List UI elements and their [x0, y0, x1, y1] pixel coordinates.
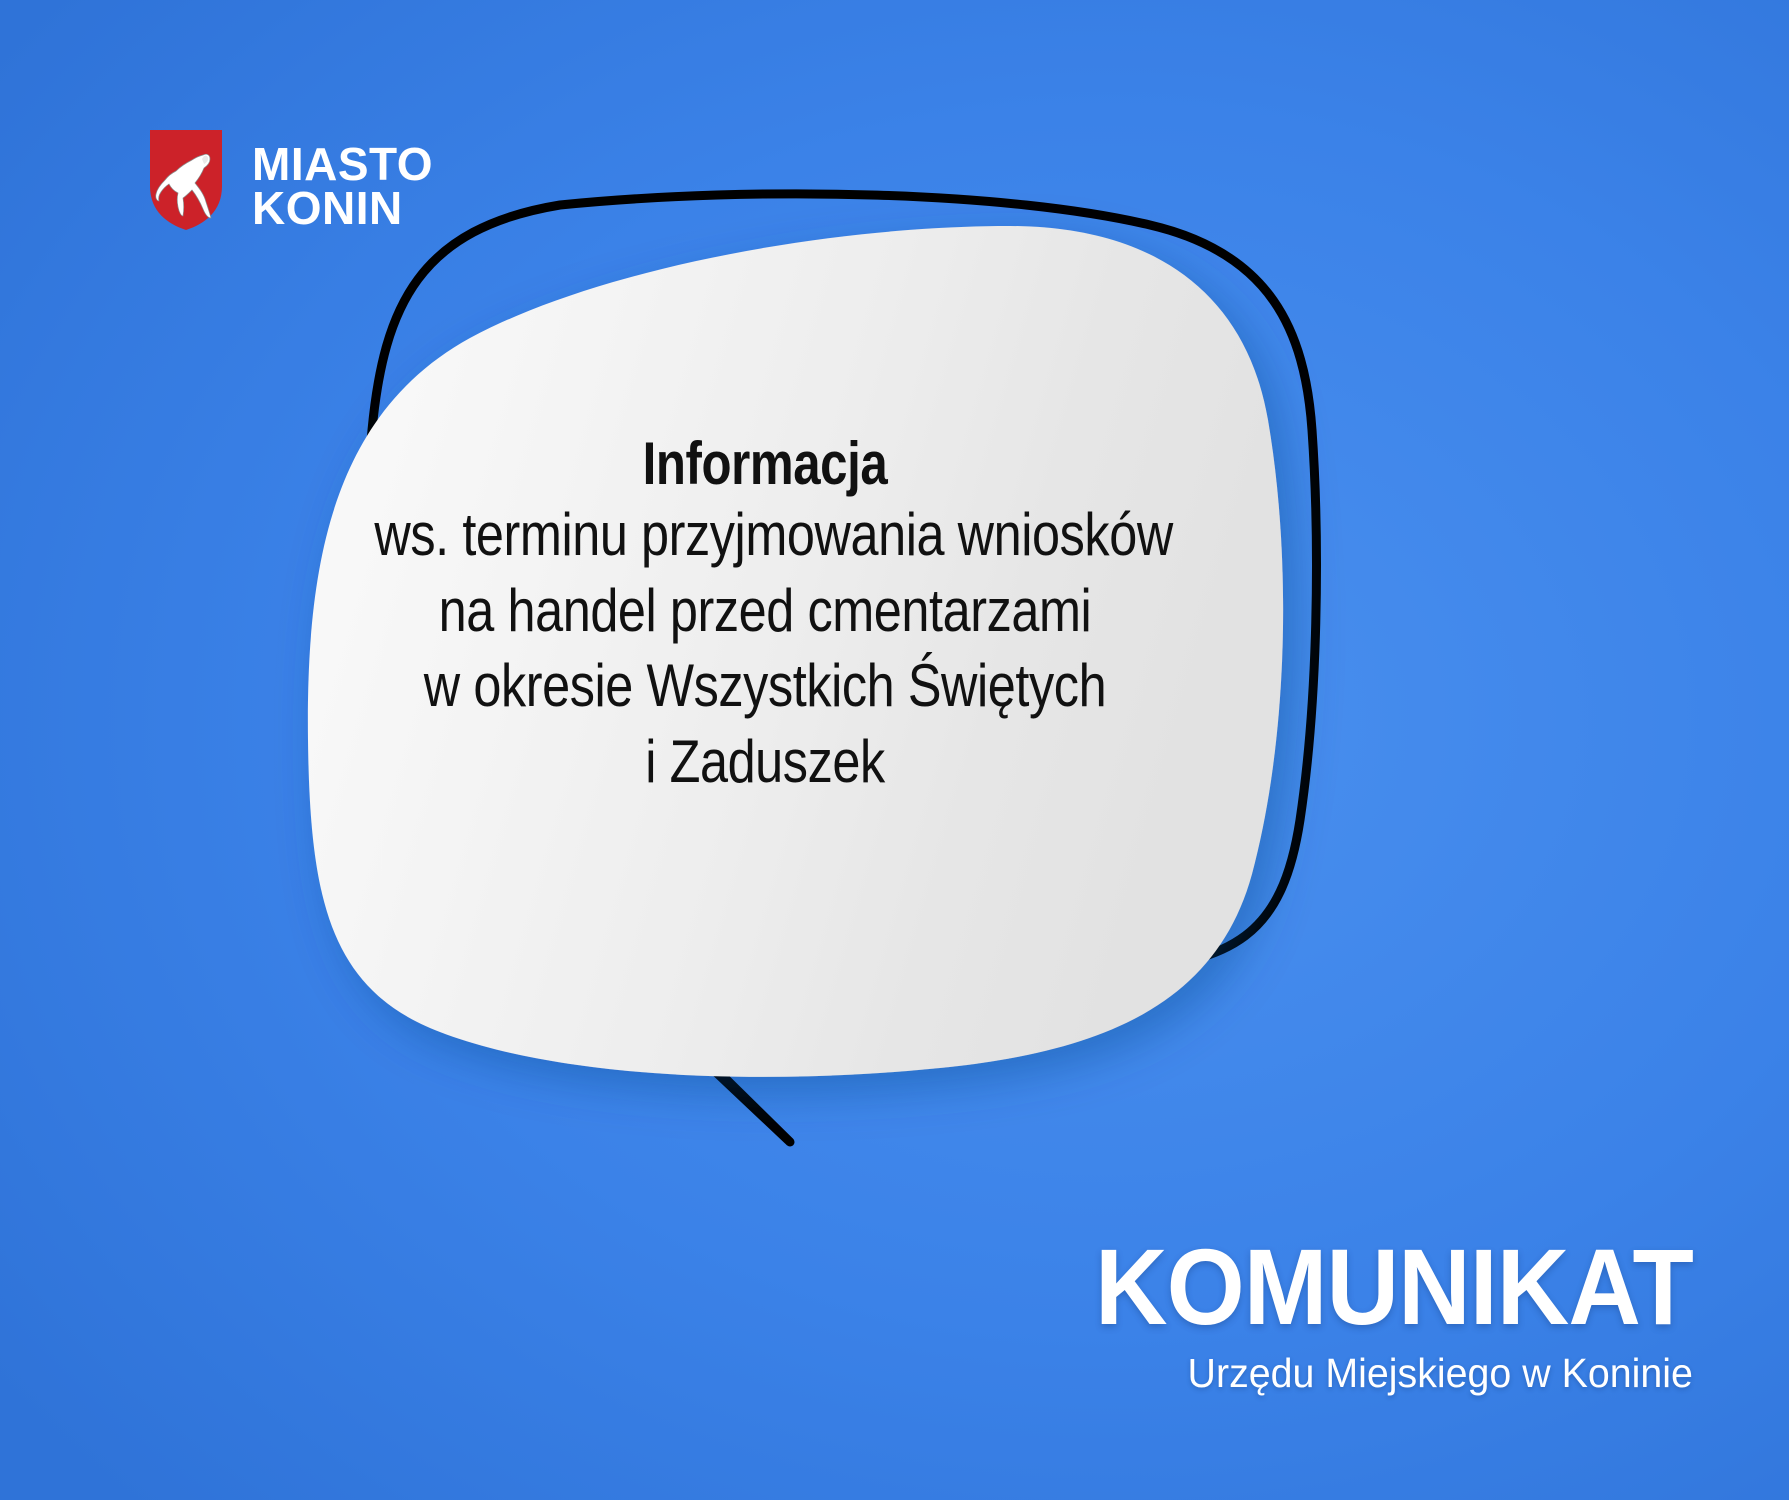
announcement-line-3: w okresie Wszystkich Świętych	[374, 648, 1155, 724]
logo-line-2: KONIN	[252, 186, 433, 230]
brand-title: KOMUNIKAT	[1095, 1233, 1693, 1341]
brand-footer: KOMUNIKAT Urzędu Miejskiego w Koninie	[1050, 1233, 1693, 1394]
konin-shield-icon	[148, 128, 224, 232]
announcement-poster: MIASTO KONIN Informacja ws. terminu przy…	[0, 0, 1789, 1500]
logo-wordmark: MIASTO KONIN	[252, 142, 433, 230]
announcement-line-4: i Zaduszek	[374, 724, 1155, 800]
announcement-line-1: ws. terminu przyjmowania wniosków	[374, 497, 1155, 573]
brand-subtitle: Urzędu Miejskiego w Koninie	[1076, 1353, 1693, 1394]
logo-line-1: MIASTO	[252, 142, 433, 186]
miasto-konin-logo: MIASTO KONIN	[148, 128, 433, 232]
announcement-line-2: na handel przed cmentarzami	[374, 573, 1155, 649]
announcement-title: Informacja	[384, 430, 1147, 497]
shield-svg	[148, 128, 224, 232]
announcement-text-block: Informacja ws. terminu przyjmowania wnio…	[300, 430, 1230, 800]
